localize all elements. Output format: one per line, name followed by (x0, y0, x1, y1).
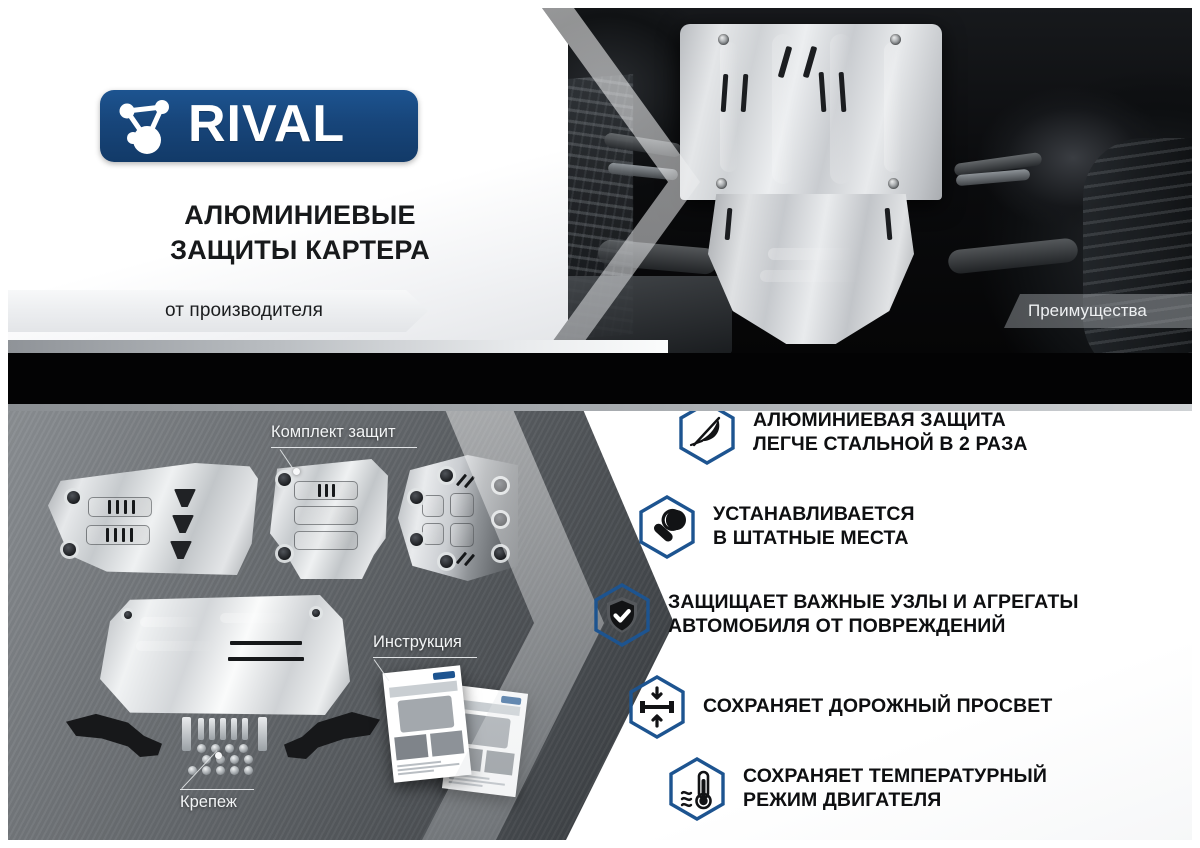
plate-pad (450, 493, 474, 517)
advantage-item-1-text: АЛЮМИНИЕВАЯ ЗАЩИТА ЛЕГЧЕ СТАЛЬНОЙ В 2 РА… (753, 411, 1028, 457)
mount-bolt (888, 178, 899, 189)
plate-pad (88, 497, 152, 517)
sheet-photo (430, 730, 464, 756)
plate-louver (106, 528, 109, 542)
plate-mount-hole (440, 469, 453, 482)
callout-fasteners-dot (215, 752, 222, 759)
plate-pad (450, 523, 474, 547)
advantage-item-3[interactable]: ЗАЩИЩАЕТ ВАЖНЫЕ УЗЛЫ И АГРЕГАТЫ АВТОМОБИ… (593, 583, 1079, 647)
advantage-item-4-text: СОХРАНЯЕТ ДОРОЖНЫЙ ПРОСВЕТ (703, 695, 1052, 719)
plate-louver (332, 484, 335, 497)
bolt (231, 718, 237, 740)
page-title: АЛЮМИНИЕВЫЕ ЗАЩИТЫ КАРТЕРА (100, 198, 500, 267)
advantage-item-2[interactable]: УСТАНАВЛИВАЕТСЯ В ШТАТНЫЕ МЕСТА (638, 495, 915, 559)
vent-slot (741, 74, 749, 112)
advantage-item-4-line1: СОХРАНЯЕТ ДОРОЖНЫЙ ПРОСВЕТ (703, 695, 1052, 719)
bolt (209, 718, 215, 740)
plate-pad (294, 506, 358, 525)
plate-mount-hole (440, 555, 453, 568)
plate-mount-hole (312, 609, 320, 617)
washer (202, 766, 211, 775)
logo-wordmark: RIVAL (188, 98, 345, 150)
plate-pad (294, 531, 358, 550)
mount-bolt (716, 178, 727, 189)
feather-icon (678, 411, 736, 465)
callout-fasteners-label: Крепеж (180, 793, 237, 812)
sheet-text-line (398, 770, 434, 775)
skid-rib (768, 248, 854, 260)
hero-section: RIVAL АЛЮМИНИЕВЫЕ ЗАЩИТЫ КАРТЕРА от прои… (8, 8, 1192, 356)
plate-louver (122, 528, 125, 542)
advantage-item-2-text: УСТАНАВЛИВАЕТСЯ В ШТАТНЫЕ МЕСТА (713, 503, 915, 551)
bolt (198, 718, 204, 740)
skid-rib (760, 270, 862, 282)
sheet-logo (433, 671, 456, 680)
plate-louver (114, 528, 117, 542)
advantage-item-5-line2: РЕЖИМ ДВИГАТЕЛЯ (743, 789, 1047, 813)
advantage-item-1[interactable]: АЛЮМИНИЕВАЯ ЗАЩИТА ЛЕГЧЕ СТАЛЬНОЙ В 2 РА… (678, 411, 1028, 465)
plate-mount-hole (410, 491, 423, 504)
instruction-sheet-front (382, 665, 471, 783)
plate-pad (422, 495, 444, 517)
crossmember (947, 237, 1079, 274)
sheet-diagram (397, 695, 454, 732)
skid-plate-upper (680, 24, 942, 200)
sheet-photo (394, 734, 428, 760)
washer (230, 766, 239, 775)
mount-bolt (718, 34, 729, 45)
vent-slot (819, 72, 827, 112)
plate-mount-hole (278, 547, 291, 560)
plate-louver (108, 500, 111, 514)
plate-louver (318, 484, 321, 497)
callout-instruction-rule (373, 657, 477, 658)
plate-louver (132, 500, 135, 514)
callout-kit-dot (293, 468, 300, 475)
washer (225, 744, 234, 753)
plate-rib (136, 641, 216, 651)
vent-slot (885, 208, 893, 240)
advantage-item-1-line2: ЛЕГЧЕ СТАЛЬНОЙ В 2 РАЗА (753, 433, 1028, 457)
banner-inner: RIVAL АЛЮМИНИЕВЫЕ ЗАЩИТЫ КАРТЕРА от прои… (8, 8, 1192, 840)
mount-bolt (890, 34, 901, 45)
bracket-strip (258, 717, 267, 751)
plate-mount-hole (124, 611, 132, 619)
plate-louver (130, 528, 133, 542)
advantage-item-3-text: ЗАЩИЩАЕТ ВАЖНЫЕ УЗЛЫ И АГРЕГАТЫ АВТОМОБИ… (668, 591, 1079, 639)
advantage-item-5-line1: СОХРАНЯЕТ ТЕМПЕРАТУРНЫЙ (743, 765, 1047, 789)
fastener-group (182, 717, 268, 773)
advantage-item-2-line1: УСТАНАВЛИВАЕТСЯ (713, 503, 915, 527)
advantage-item-4[interactable]: СОХРАНЯЕТ ДОРОЖНЫЙ ПРОСВЕТ (628, 675, 1052, 739)
callout-kit-rule (271, 447, 417, 448)
advantage-item-2-line2: В ШТАТНЫЕ МЕСТА (713, 527, 915, 551)
products-section: Комплект защит Инструкция Крепеж (8, 411, 1192, 840)
bolt (242, 718, 248, 740)
wrench-icon (638, 495, 696, 559)
bolt (220, 718, 226, 740)
advantages-list: АЛЮМИНИЕВАЯ ЗАЩИТА ЛЕГЧЕ СТАЛЬНОЙ В 2 РА… (623, 427, 1192, 837)
plate-louver (228, 657, 304, 661)
washer (244, 755, 253, 764)
rival-logo[interactable]: RIVAL (100, 90, 418, 162)
advantage-item-3-line2: АВТОМОБИЛЯ ОТ ПОВРЕЖДЕНИЙ (668, 615, 1079, 639)
page-title-line2: ЗАЩИТЫ КАРТЕРА (100, 233, 500, 268)
washer (216, 766, 225, 775)
washer (230, 755, 239, 764)
subtitle-strip: от производителя (8, 290, 428, 332)
plate-louver (116, 500, 119, 514)
plate-louver (325, 484, 328, 497)
thermometer-icon (668, 757, 726, 821)
skid-plate-long (48, 463, 258, 575)
advantage-item-1-line1: АЛЮМИНИЕВАЯ ЗАЩИТА (753, 411, 1028, 433)
vent-slot (803, 46, 818, 78)
advantages-tab-label: Преимущества (1028, 301, 1147, 321)
shield-check-icon (593, 583, 651, 647)
plate-mount-hole (67, 491, 80, 504)
advantage-item-5-text: СОХРАНЯЕТ ТЕМПЕРАТУРНЫЙ РЕЖИМ ДВИГАТЕЛЯ (743, 765, 1047, 813)
subtitle-text: от производителя (165, 300, 323, 322)
skid-plate-front (100, 595, 350, 715)
separator-band (8, 353, 1192, 410)
banner-root: RIVAL АЛЮМИНИЕВЫЕ ЗАЩИТЫ КАРТЕРА от прои… (0, 0, 1200, 848)
plate-mount-hole (410, 533, 423, 546)
hero-bottom-rule (8, 340, 668, 353)
washer (239, 744, 248, 753)
vent-slot (725, 208, 733, 240)
callout-fasteners-rule (180, 789, 254, 790)
plate-rib (140, 617, 200, 627)
washer (197, 744, 206, 753)
page-title-line1: АЛЮМИНИЕВЫЕ (100, 198, 500, 233)
skid-plate-lower (708, 194, 914, 344)
skid-rib (884, 42, 902, 172)
plate-louver (124, 500, 127, 514)
plate-mount-hole (63, 543, 76, 556)
callout-instruction-label: Инструкция (373, 633, 462, 652)
plate-mount-hole (278, 473, 291, 486)
ground-clearance-icon (628, 675, 686, 739)
plate-louver (230, 641, 302, 645)
advantage-item-5[interactable]: СОХРАНЯЕТ ТЕМПЕРАТУРНЫЙ РЕЖИМ ДВИГАТЕЛЯ (668, 757, 1047, 821)
advantages-tab[interactable]: Преимущества (1004, 294, 1192, 328)
plate-pad (86, 525, 150, 545)
washer (244, 766, 253, 775)
plate-body (48, 463, 258, 575)
molecule-icon (114, 98, 186, 154)
advantage-item-3-line1: ЗАЩИЩАЕТ ВАЖНЫЕ УЗЛЫ И АГРЕГАТЫ (668, 591, 1079, 615)
plate-pad (422, 523, 444, 545)
separator-rule (8, 404, 1192, 411)
bracket-strip (182, 717, 191, 751)
skid-plate-square (270, 459, 388, 579)
plate-rib (220, 613, 290, 623)
callout-kit-label: Комплект защит (271, 423, 396, 442)
